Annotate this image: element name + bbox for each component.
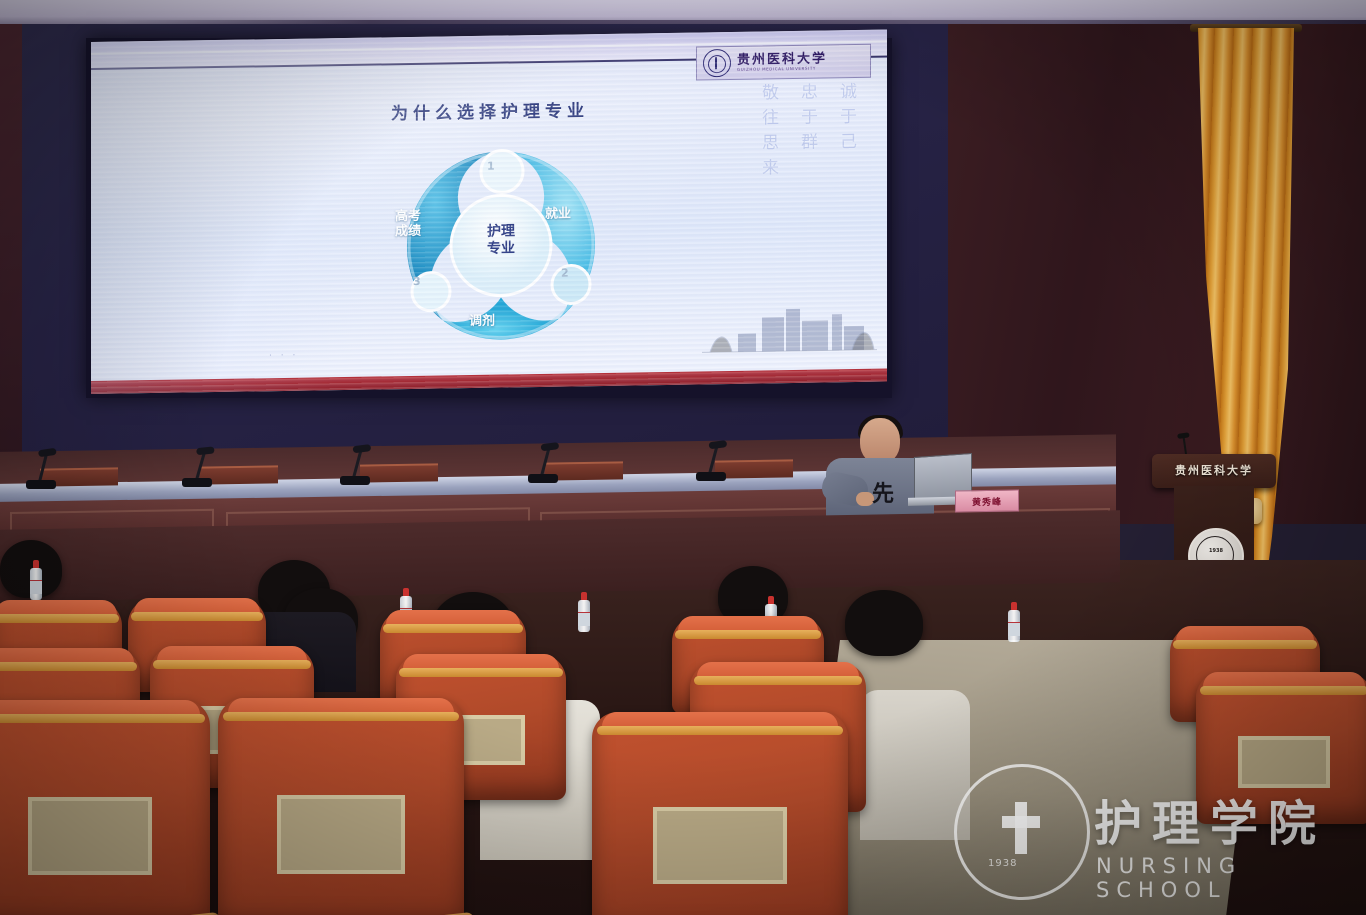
podium-seal-year: 1938 xyxy=(1190,548,1242,554)
diagram-number-1: 1 xyxy=(487,160,495,173)
seat-trim xyxy=(1173,640,1317,649)
slide-ellipsis: · · · xyxy=(269,351,298,361)
slide-bottom-red-band xyxy=(91,368,887,394)
water-bottle xyxy=(30,560,42,600)
audience-shoulders xyxy=(860,690,970,840)
seat-trim xyxy=(675,630,821,639)
seat-trim xyxy=(597,726,843,735)
seat-trim xyxy=(0,714,205,723)
seat-trim xyxy=(223,712,459,721)
campus-illustration xyxy=(702,298,877,359)
motto-column-3: 敬往思来 xyxy=(756,83,781,183)
seat-trim xyxy=(131,612,263,621)
seat-trim xyxy=(399,668,562,677)
motto-column-2: 忠于群 xyxy=(795,83,820,183)
diagram-center-line2: 专业 xyxy=(455,240,547,258)
bottle-label xyxy=(1008,622,1020,636)
desk-microphone-base xyxy=(340,476,370,485)
nursing-choice-diagram: 高考 成绩 就业 调剂 护理 专业 1 2 3 xyxy=(381,144,621,348)
seat-trim xyxy=(383,624,523,633)
seat-trim xyxy=(153,660,310,669)
seat-number-plaque xyxy=(653,807,786,884)
diagram-label-1-line2: 成绩 xyxy=(395,224,421,239)
seat-trim xyxy=(0,614,119,623)
desk-folder xyxy=(360,463,438,482)
slide-title: 为什么选择护理专业 xyxy=(391,96,589,124)
auditorium-seat[interactable] xyxy=(1196,672,1366,824)
water-bottle xyxy=(1008,602,1020,642)
bottle-label xyxy=(578,612,590,626)
diagram-label-1-line1: 高考 xyxy=(395,209,421,224)
audience-head xyxy=(845,590,923,656)
lecture-hall-photo: 贵州医科大学 GUIZHOU MEDICAL UNIVERSITY 诚于己 忠于… xyxy=(0,0,1366,915)
seat-trim xyxy=(1200,686,1366,695)
desk-microphone-base xyxy=(182,478,212,487)
desk-folder xyxy=(715,459,793,478)
auditorium-seat[interactable] xyxy=(0,700,210,915)
diagram-center-line1: 护理 xyxy=(455,223,547,241)
podium-university-name: 贵州医科大学 xyxy=(1162,462,1266,478)
diagram-center-label: 护理 专业 xyxy=(455,223,547,258)
diagram-label-1: 高考 成绩 xyxy=(395,209,421,239)
diagram-label-2-line1: 就业 xyxy=(545,206,571,221)
seat-number-plaque xyxy=(277,795,405,874)
desk-microphone-base xyxy=(696,472,726,481)
seat-trim xyxy=(694,676,863,685)
university-name-english: GUIZHOU MEDICAL UNIVERSITY xyxy=(737,65,827,71)
diagram-bubble-2 xyxy=(552,265,590,304)
diagram-number-3: 3 xyxy=(413,275,421,288)
diagram-label-3: 调剂 xyxy=(469,314,495,329)
desk-microphone-base xyxy=(528,474,558,483)
diagram-label-2: 就业 xyxy=(545,206,571,221)
presenter-nameplate: 黄秀峰 xyxy=(955,489,1019,512)
projection-screen: 贵州医科大学 GUIZHOU MEDICAL UNIVERSITY 诚于己 忠于… xyxy=(91,29,887,394)
diagram-number-2: 2 xyxy=(561,266,569,279)
projection-screen-frame: 贵州医科大学 GUIZHOU MEDICAL UNIVERSITY 诚于己 忠于… xyxy=(86,38,892,398)
bottle-label xyxy=(30,580,42,594)
university-seal-icon xyxy=(703,49,731,77)
seat-trim xyxy=(0,662,137,671)
water-bottle xyxy=(578,592,590,632)
desk-microphone-base xyxy=(26,480,56,489)
diagram-label-3-line1: 调剂 xyxy=(469,314,495,329)
university-logo-bar: 贵州医科大学 GUIZHOU MEDICAL UNIVERSITY xyxy=(696,44,871,81)
auditorium-seat[interactable] xyxy=(218,698,464,915)
slide-motto: 诚于己 忠于群 敬往思来 xyxy=(756,82,859,184)
auditorium-seat[interactable] xyxy=(592,712,848,915)
presenter-name: 黄秀峰 xyxy=(972,494,1002,508)
seat-number-plaque xyxy=(1238,736,1330,788)
seat-number-plaque xyxy=(28,797,153,875)
presenter-shirt-character: 先 xyxy=(872,476,894,508)
motto-column-1: 诚于己 xyxy=(834,82,859,182)
